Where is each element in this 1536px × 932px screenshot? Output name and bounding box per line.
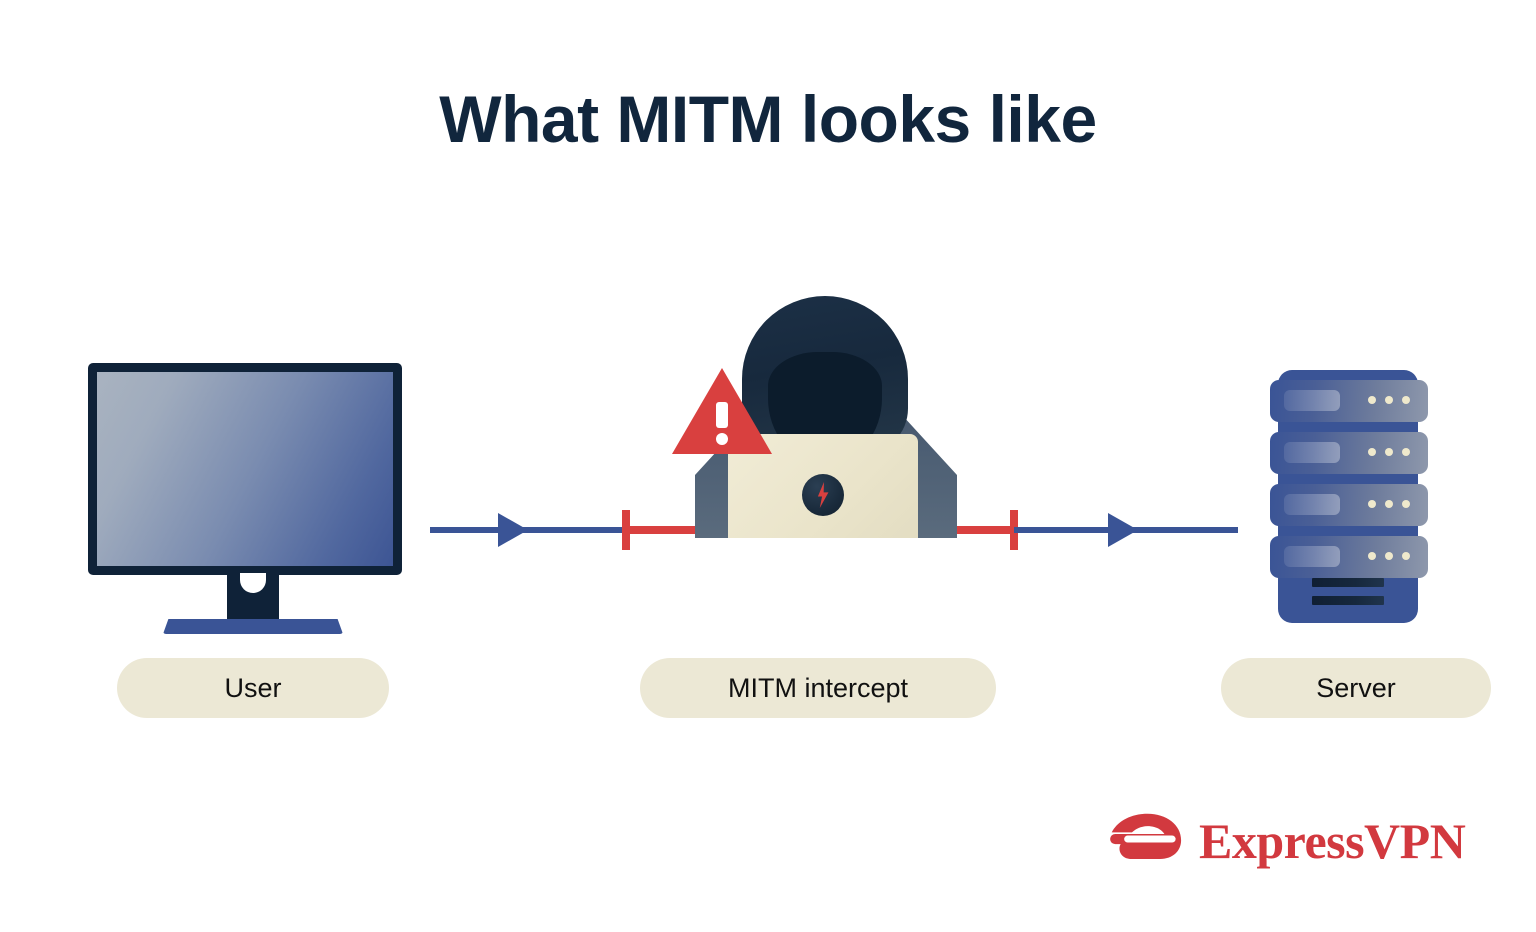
server-rack-unit <box>1270 432 1428 474</box>
warning-exclamation-bar <box>716 402 728 428</box>
label-user-text: User <box>224 675 281 702</box>
hooded-hacker-laptop-icon <box>660 290 990 538</box>
server-led-dot <box>1368 448 1376 456</box>
server-led-dot <box>1368 552 1376 560</box>
server-rack-dots <box>1368 500 1410 508</box>
expressvpn-e-mark-icon <box>1107 812 1185 870</box>
server-rack-unit <box>1270 484 1428 526</box>
server-led-dot <box>1368 500 1376 508</box>
server-rack-dots <box>1368 396 1410 404</box>
label-mitm-intercept-text: MITM intercept <box>728 675 908 702</box>
label-server: Server <box>1221 658 1491 718</box>
server-base-line <box>1312 596 1384 605</box>
connection-segment-intercept-to-server <box>1014 527 1238 533</box>
warning-triangle-icon <box>672 368 772 454</box>
server-led-dot <box>1385 552 1393 560</box>
server-rack-slot <box>1284 494 1340 515</box>
server-base-line <box>1312 578 1384 587</box>
intercept-tick-right-icon <box>1010 510 1018 550</box>
server-rack-icon <box>1270 370 1428 623</box>
server-led-dot <box>1402 500 1410 508</box>
expressvpn-logo: ExpressVPN <box>1107 812 1465 870</box>
server-rack-slot <box>1284 546 1340 567</box>
right-arrow-icon <box>1108 513 1138 547</box>
server-rack-dots <box>1368 448 1410 456</box>
diagram-canvas: What MITM looks like <box>0 0 1536 932</box>
server-rack-unit <box>1270 380 1428 422</box>
monitor-bezel <box>88 363 402 575</box>
server-led-dot <box>1368 396 1376 404</box>
right-arrow-icon <box>498 513 528 547</box>
monitor-screen <box>97 372 393 566</box>
server-rack-slot <box>1284 390 1340 411</box>
label-mitm-intercept: MITM intercept <box>640 658 996 718</box>
server-led-dot <box>1385 448 1393 456</box>
server-rack-dots <box>1368 552 1410 560</box>
server-rack-unit <box>1270 536 1428 578</box>
page-title: What MITM looks like <box>0 82 1536 158</box>
server-rack-slot <box>1284 442 1340 463</box>
server-led-dot <box>1402 448 1410 456</box>
intercept-tick-left-icon <box>622 510 630 550</box>
monitor-base <box>163 619 343 634</box>
desktop-monitor-icon <box>88 363 404 631</box>
label-server-text: Server <box>1316 675 1396 702</box>
server-led-dot <box>1385 396 1393 404</box>
expressvpn-wordmark: ExpressVPN <box>1199 816 1465 866</box>
laptop-badge <box>802 474 844 516</box>
warning-exclamation-dot <box>716 433 728 445</box>
server-led-dot <box>1385 500 1393 508</box>
connection-segment-user-to-intercept <box>430 527 626 533</box>
lightning-bolt-icon <box>815 482 831 508</box>
label-user: User <box>117 658 389 718</box>
server-led-dot <box>1402 552 1410 560</box>
server-led-dot <box>1402 396 1410 404</box>
